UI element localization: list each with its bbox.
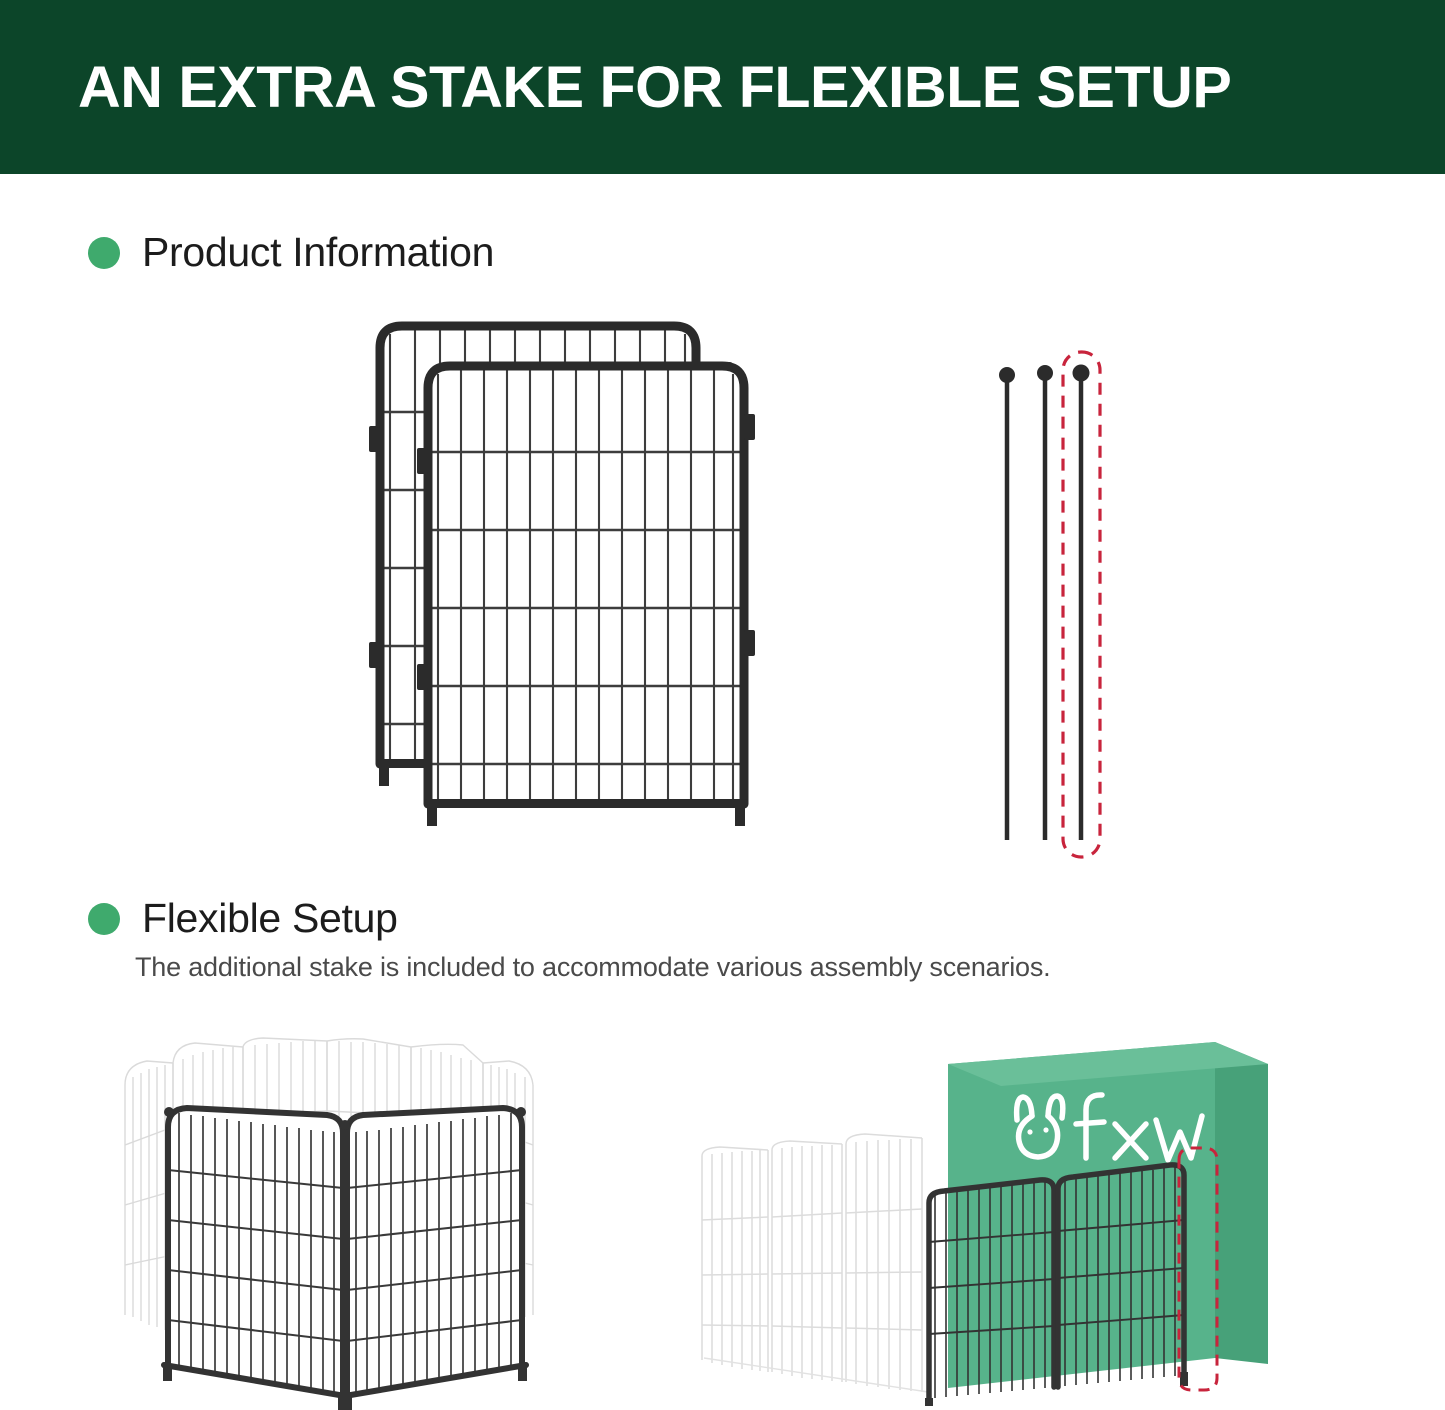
active-panel-right [340, 1107, 527, 1410]
fence-panel-front [417, 362, 755, 826]
flexible-setup-description: The additional stake is included to acco… [135, 952, 1050, 983]
section-title-product-information: Product Information [142, 229, 494, 276]
wall-scene-illustration [690, 1020, 1290, 1406]
active-panel-left [163, 1107, 347, 1410]
ground-stakes-illustration [955, 340, 1145, 870]
header-banner: AN EXTRA STAKE FOR FLEXIBLE SETUP [0, 0, 1445, 174]
ghost-fence-row [702, 1134, 928, 1392]
active-panel-wall-left [925, 1180, 1054, 1406]
bullet-dot-icon [88, 237, 120, 269]
stake-1 [999, 367, 1015, 840]
fence-panels-illustration [355, 312, 775, 857]
page-title: AN EXTRA STAKE FOR FLEXIBLE SETUP [78, 54, 1231, 121]
section-heading-product-information: Product Information [88, 229, 494, 276]
green-wall [948, 1042, 1268, 1388]
section-heading-flexible-setup: Flexible Setup [88, 895, 398, 942]
stake-3-highlighted [1063, 352, 1100, 857]
octagonal-playpen-illustration [95, 1015, 595, 1410]
section-title-flexible-setup: Flexible Setup [142, 895, 398, 942]
bullet-dot-icon [88, 903, 120, 935]
stake-2 [1037, 365, 1053, 840]
